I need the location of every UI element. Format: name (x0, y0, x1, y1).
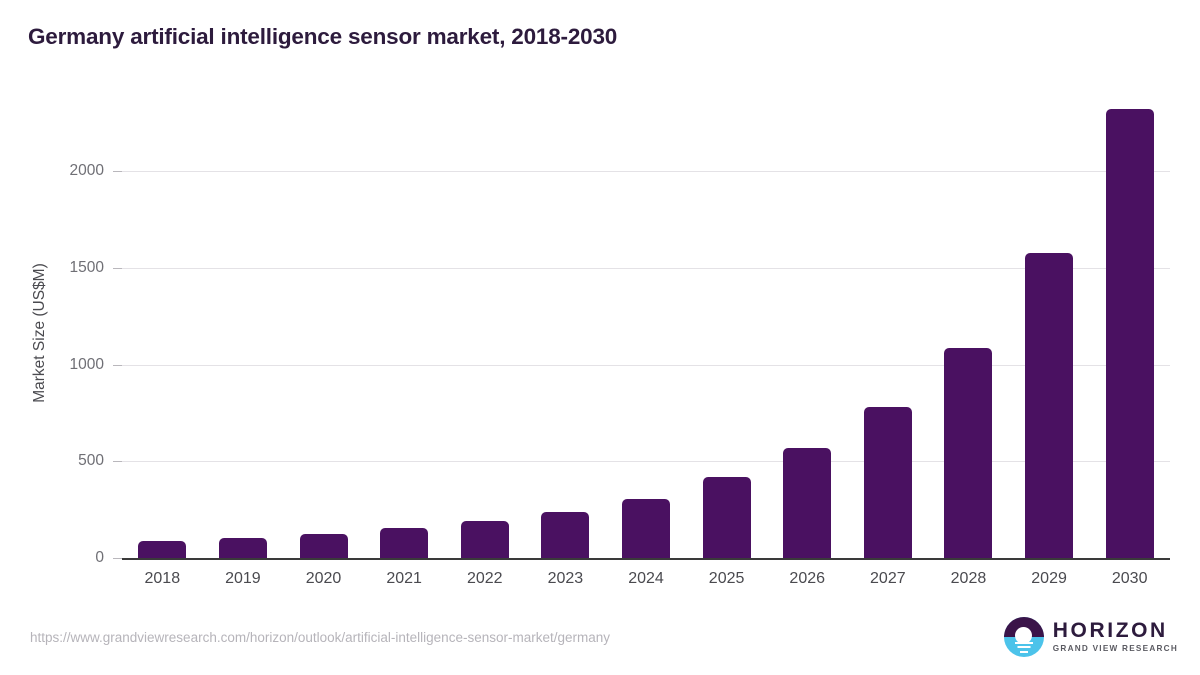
y-axis-tick-mark (113, 171, 122, 172)
bar-slot (122, 90, 203, 558)
bar[interactable] (783, 448, 831, 558)
x-axis-tick-label: 2021 (364, 570, 445, 588)
x-axis-tick-label: 2018 (122, 570, 203, 588)
x-axis-tick-label: 2027 (848, 570, 929, 588)
y-axis-tick-mark (113, 365, 122, 366)
bar[interactable] (138, 541, 186, 558)
x-axis-tick-label: 2026 (767, 570, 848, 588)
bars-layer (122, 90, 1170, 558)
x-axis-tick-label: 2020 (283, 570, 364, 588)
horizon-logo[interactable]: HORIZON GRAND VIEW RESEARCH (1004, 617, 1178, 657)
y-axis-title: Market Size (US$M) (31, 133, 49, 533)
bar-slot (767, 90, 848, 558)
bar[interactable] (300, 534, 348, 558)
bar[interactable] (461, 521, 509, 558)
x-axis-tick-labels: 2018201920202021202220232024202520262027… (122, 570, 1170, 600)
bar[interactable] (622, 499, 670, 558)
x-axis-tick-label: 2029 (1009, 570, 1090, 588)
bar-slot (1089, 90, 1170, 558)
x-axis-tick-label: 2019 (203, 570, 284, 588)
bar-slot (848, 90, 929, 558)
bar-slot (364, 90, 445, 558)
y-axis-tick-label: 1500 (0, 259, 104, 277)
y-axis-tick-label: 2000 (0, 162, 104, 180)
logo-name: HORIZON (1053, 620, 1178, 641)
y-axis-tick-mark (113, 268, 122, 269)
y-axis-tick-label: 0 (0, 549, 104, 567)
bar-slot (606, 90, 687, 558)
bar[interactable] (219, 538, 267, 558)
bar-slot (928, 90, 1009, 558)
bar-slot (283, 90, 364, 558)
x-axis-tick-label: 2025 (686, 570, 767, 588)
x-axis-tick-label: 2028 (928, 570, 1009, 588)
logo-tagline: GRAND VIEW RESEARCH (1053, 645, 1178, 653)
bar-slot (525, 90, 606, 558)
x-axis-tick-label: 2030 (1089, 570, 1170, 588)
x-axis-tick-label: 2024 (606, 570, 687, 588)
bar-slot (203, 90, 284, 558)
bar[interactable] (1106, 109, 1154, 558)
y-axis-tick-label: 1000 (0, 356, 104, 374)
bar[interactable] (380, 528, 428, 558)
x-axis-tick-label: 2023 (525, 570, 606, 588)
y-axis-tick-mark (113, 461, 122, 462)
bar[interactable] (944, 348, 992, 558)
chart-page: Germany artificial intelligence sensor m… (0, 0, 1200, 675)
page-title: Germany artificial intelligence sensor m… (28, 24, 617, 50)
bar-slot (1009, 90, 1090, 558)
bar[interactable] (1025, 253, 1073, 558)
source-url[interactable]: https://www.grandviewresearch.com/horizo… (30, 630, 610, 645)
y-axis-tick-mark (113, 558, 122, 559)
x-axis-line (122, 558, 1170, 560)
horizon-sunrise-icon (1004, 617, 1044, 657)
bar-slot (444, 90, 525, 558)
y-axis-tick-label: 500 (0, 452, 104, 470)
bar-slot (686, 90, 767, 558)
bar[interactable] (541, 512, 589, 558)
x-axis-tick-label: 2022 (444, 570, 525, 588)
bar[interactable] (864, 407, 912, 558)
bar[interactable] (703, 477, 751, 558)
